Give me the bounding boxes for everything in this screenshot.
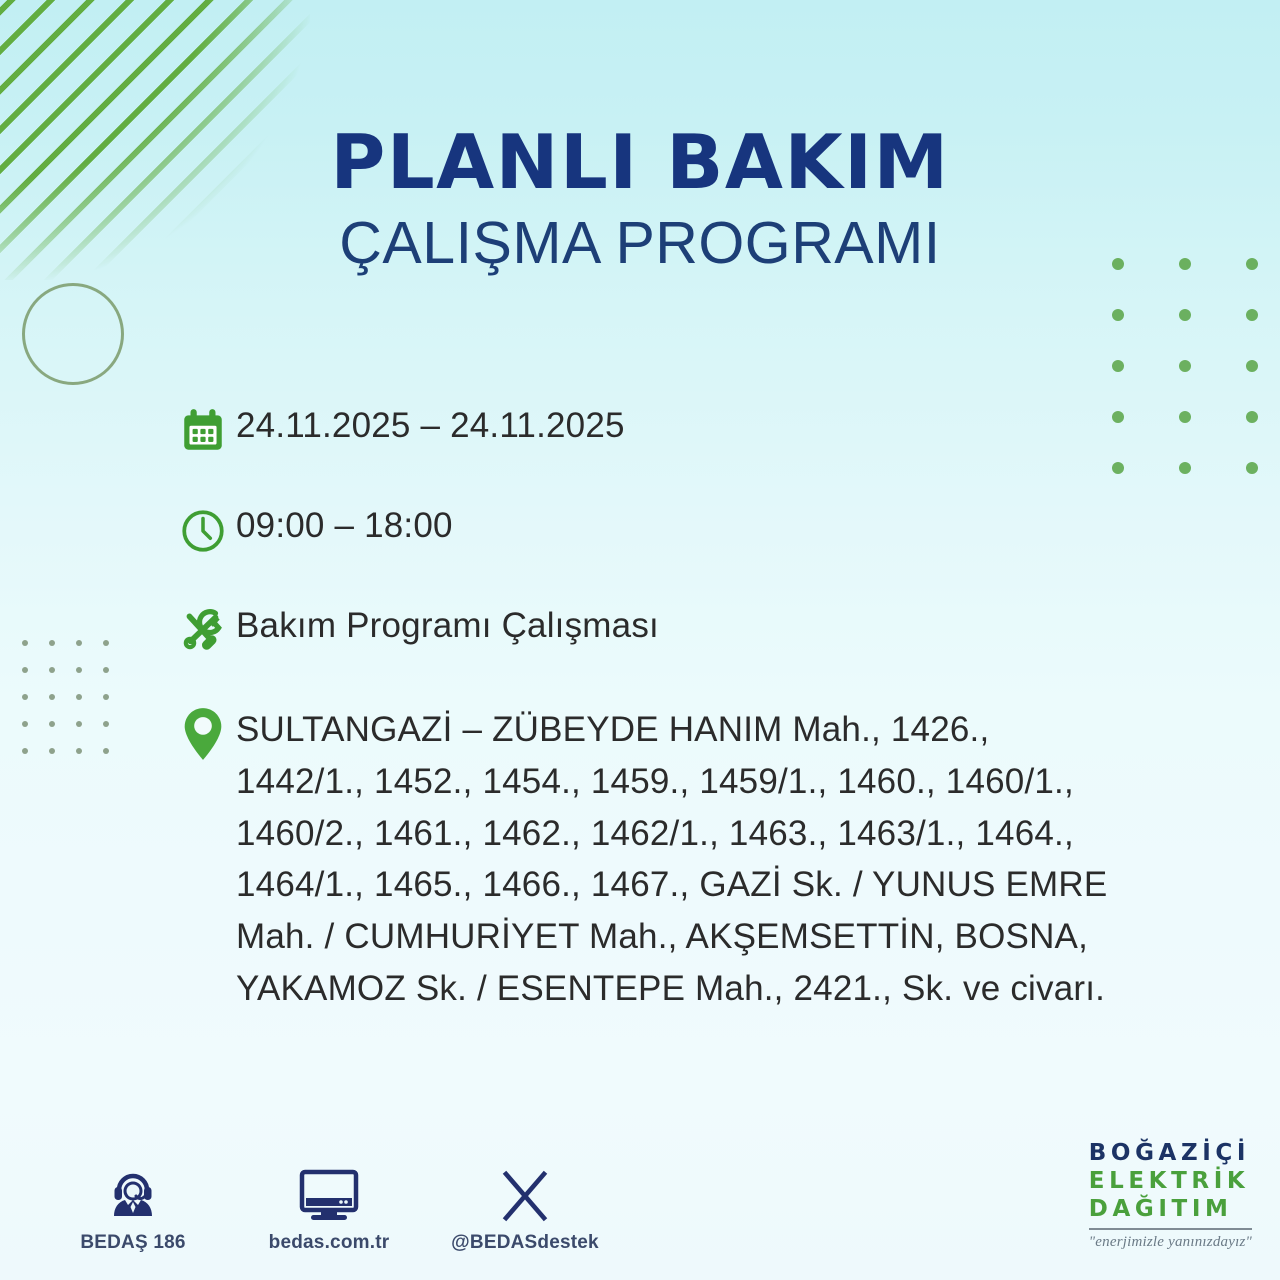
- info-row-time: 09:00 – 18:00: [178, 504, 1268, 568]
- location-pin-icon: [178, 704, 236, 768]
- location-line-0: SULTANGAZİ – ZÜBEYDE HANIM Mah., 1426.,: [236, 704, 1268, 756]
- logo-divider: [1089, 1228, 1252, 1230]
- contact-list: BEDAŞ 186 bedas.com.tr: [58, 1162, 600, 1254]
- dot: [103, 721, 109, 727]
- tools-icon: [178, 604, 236, 668]
- dot: [49, 667, 55, 673]
- dot: [22, 748, 28, 754]
- logo-line-dagitim: DAĞITIM: [1089, 1198, 1252, 1221]
- location-line-5: YAKAMOZ Sk. / ESENTEPE Mah., 2421., Sk. …: [236, 963, 1268, 1015]
- x-twitter-icon: [450, 1162, 600, 1224]
- dot-grid-left-decoration: [22, 640, 130, 775]
- location-line-4: Mah. / CUMHURİYET Mah., AKŞEMSETTİN, BOS…: [236, 911, 1268, 963]
- dot: [1179, 258, 1191, 270]
- monitor-icon: [254, 1162, 404, 1224]
- info-row-date: 24.11.2025 – 24.11.2025: [178, 404, 1268, 468]
- contact-website-label: bedas.com.tr: [254, 1232, 404, 1254]
- location-line-3: 1464/1., 1465., 1466., 1467., GAZİ Sk. /…: [236, 859, 1268, 911]
- dot: [22, 694, 28, 700]
- contact-phone-label: BEDAŞ 186: [58, 1232, 208, 1254]
- headset-operator-icon: [58, 1162, 208, 1224]
- info-row-work: Bakım Programı Çalışması: [178, 604, 1268, 668]
- dot: [22, 640, 28, 646]
- dot: [1112, 258, 1124, 270]
- contact-phone[interactable]: BEDAŞ 186: [58, 1162, 208, 1254]
- contact-website[interactable]: bedas.com.tr: [254, 1162, 404, 1254]
- dot: [103, 640, 109, 646]
- contact-social[interactable]: @BEDASdestek: [450, 1162, 600, 1254]
- dot: [76, 640, 82, 646]
- time-range-text: 09:00 – 18:00: [236, 504, 1268, 545]
- dot: [49, 748, 55, 754]
- dot: [49, 721, 55, 727]
- circle-outline-decoration: [22, 283, 124, 385]
- logo-line-bogazici: BOĞAZİÇİ: [1089, 1142, 1252, 1165]
- bedas-logo: BOĞAZİÇİ ELEKTRİK DAĞITIM "enerjimizle y…: [1089, 1142, 1252, 1250]
- dot: [49, 694, 55, 700]
- dot: [1246, 258, 1258, 270]
- dot: [22, 721, 28, 727]
- info-row-location: SULTANGAZİ – ZÜBEYDE HANIM Mah., 1426.,1…: [178, 704, 1268, 1015]
- location-text: SULTANGAZİ – ZÜBEYDE HANIM Mah., 1426.,1…: [236, 704, 1268, 1015]
- dot: [1112, 360, 1124, 372]
- calendar-icon: [178, 404, 236, 468]
- date-range-text: 24.11.2025 – 24.11.2025: [236, 404, 1268, 445]
- dot: [103, 748, 109, 754]
- logo-line-elektrik: ELEKTRİK: [1089, 1170, 1252, 1193]
- dot: [1112, 309, 1124, 321]
- dot: [76, 667, 82, 673]
- diagonal-stripes-decoration: [0, 0, 310, 280]
- clock-icon: [178, 504, 236, 568]
- poster-canvas: PLANLI BAKIM ÇALIŞMA PROGRAMI: [0, 0, 1280, 1280]
- dot: [22, 667, 28, 673]
- dot: [103, 667, 109, 673]
- dot: [1246, 309, 1258, 321]
- dot: [103, 694, 109, 700]
- dot: [76, 694, 82, 700]
- work-type-text: Bakım Programı Çalışması: [236, 604, 1268, 645]
- dot: [76, 748, 82, 754]
- dot: [76, 721, 82, 727]
- location-line-1: 1442/1., 1452., 1454., 1459., 1459/1., 1…: [236, 756, 1268, 808]
- dot: [1179, 360, 1191, 372]
- poster-footer: BEDAŞ 186 bedas.com.tr: [0, 1110, 1280, 1280]
- dot: [49, 640, 55, 646]
- info-list: 24.11.2025 – 24.11.2025 09:00 – 18:00: [178, 404, 1268, 1015]
- location-line-2: 1460/2., 1461., 1462., 1462/1., 1463., 1…: [236, 808, 1268, 860]
- contact-social-label: @BEDASdestek: [450, 1232, 600, 1254]
- logo-tagline: "enerjimizle yanınızdayız": [1089, 1235, 1252, 1250]
- dot: [1179, 309, 1191, 321]
- dot: [1246, 360, 1258, 372]
